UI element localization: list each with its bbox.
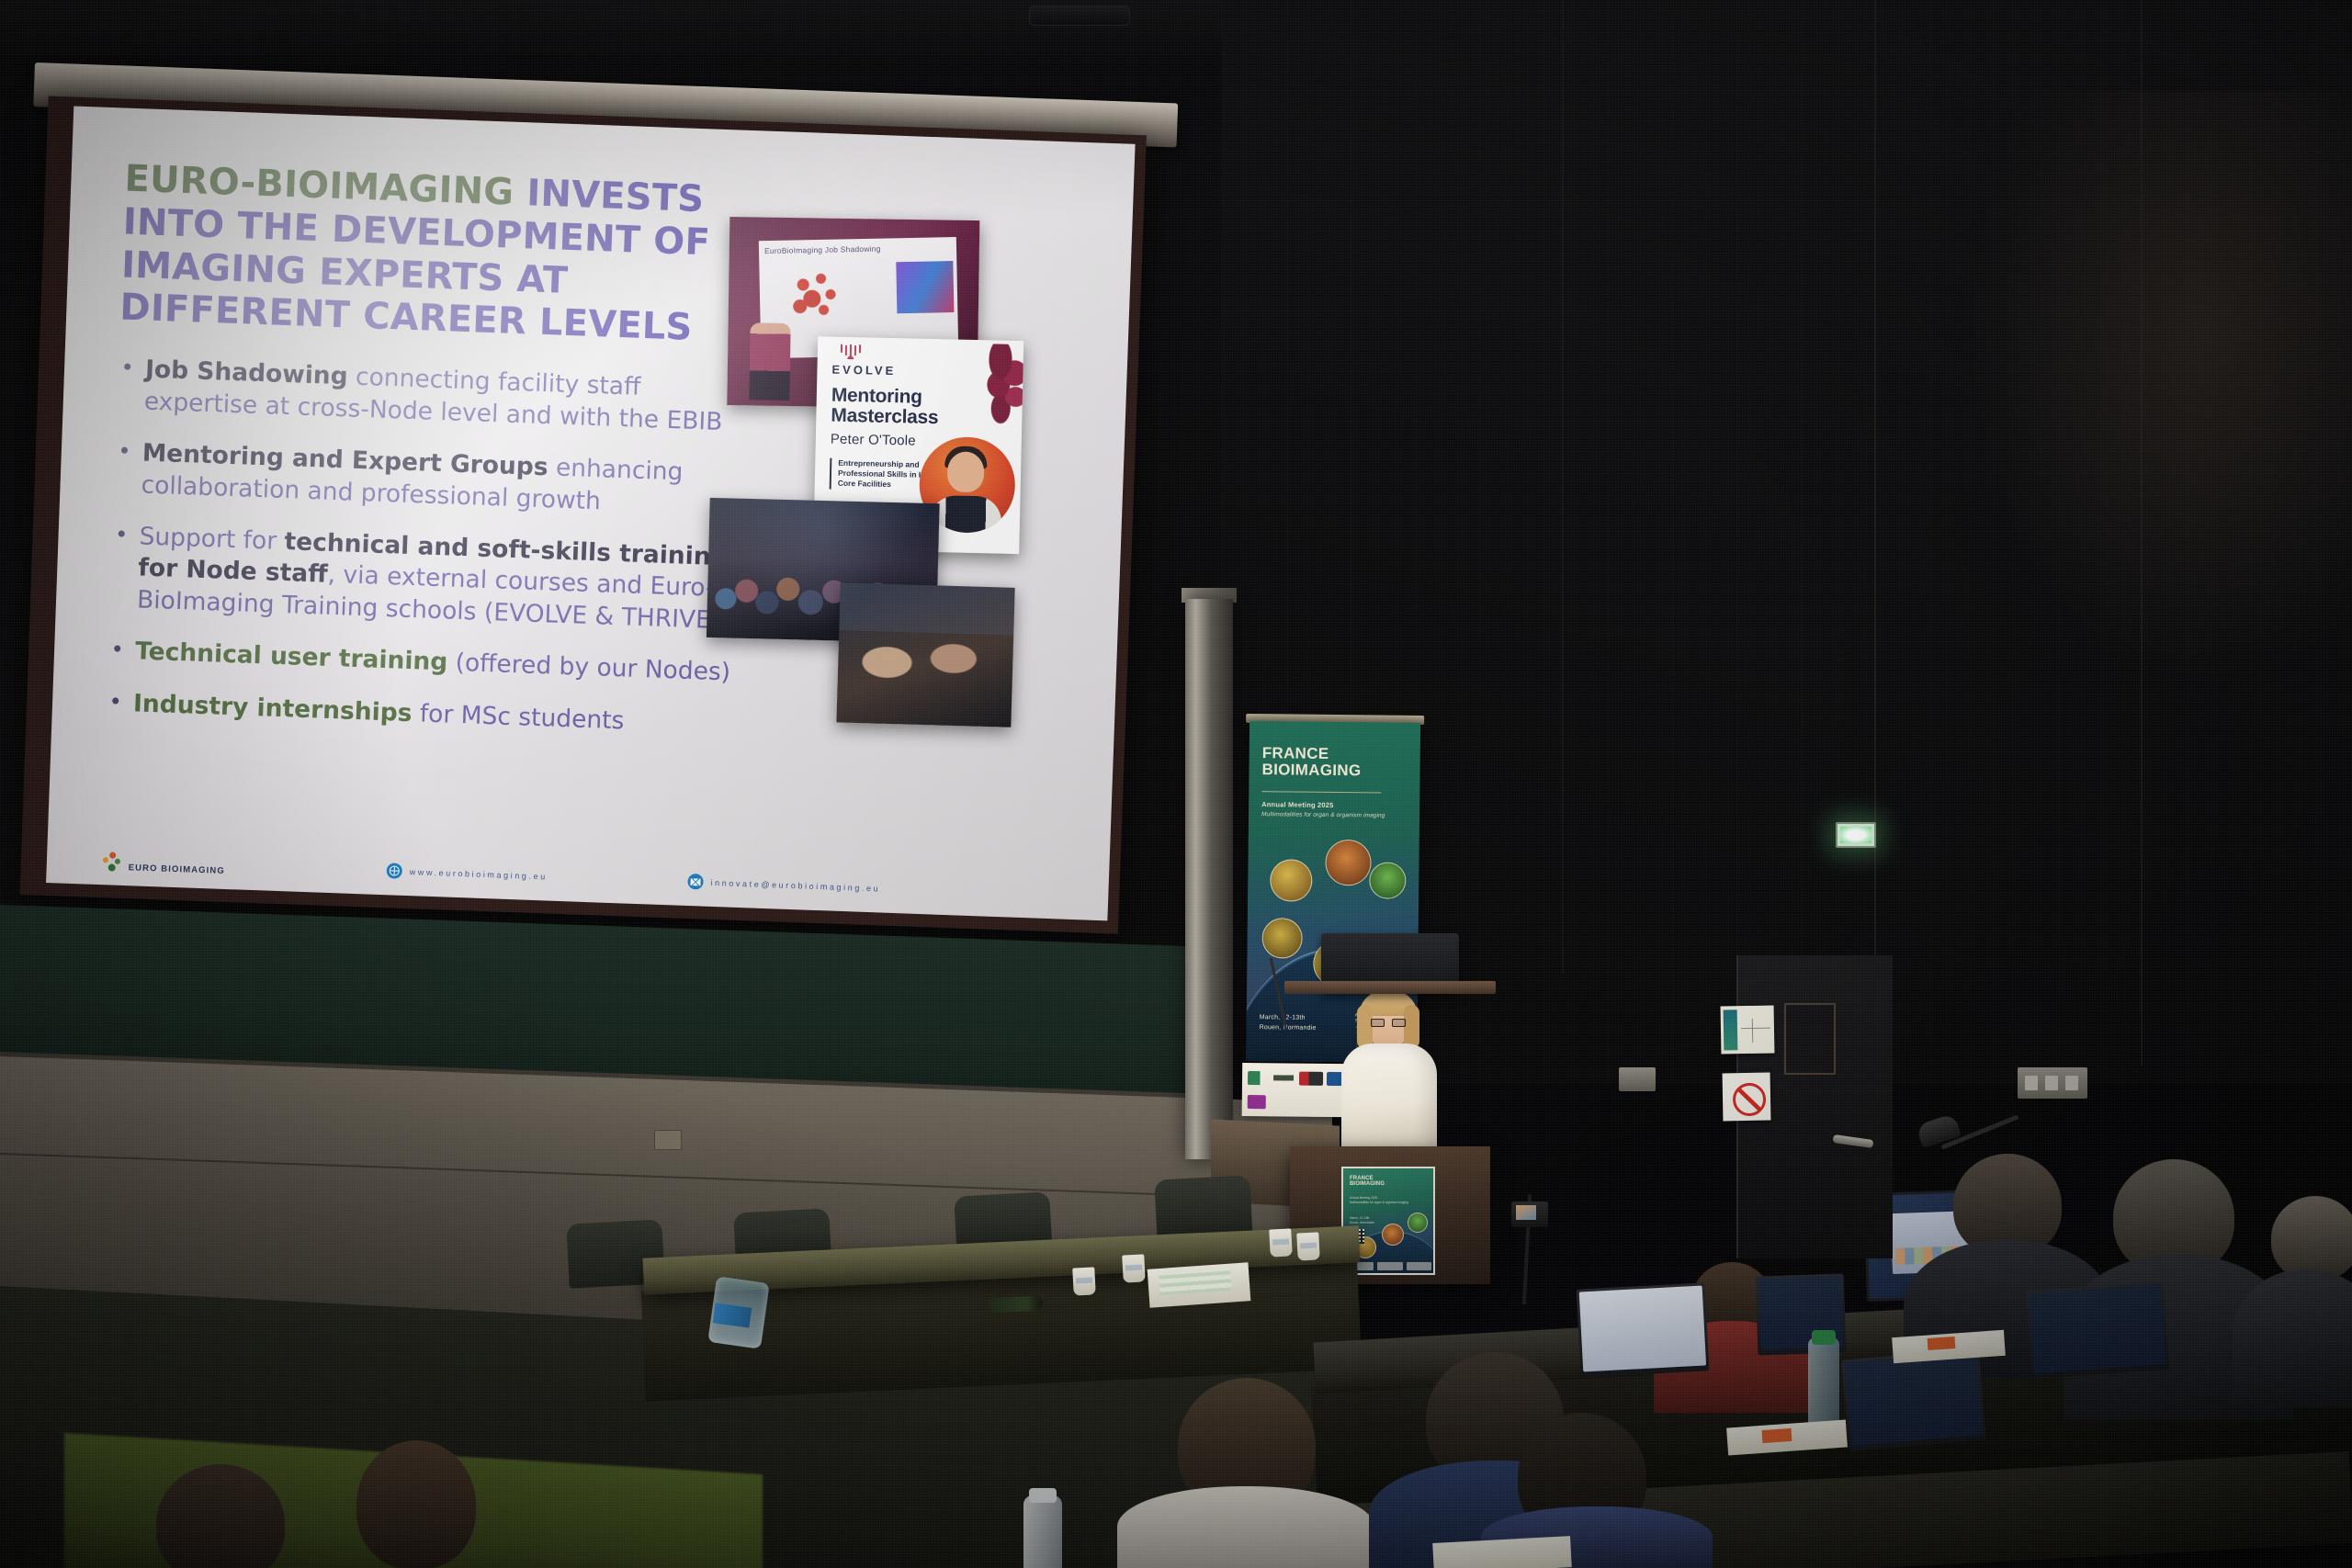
bullet-text: Job Shadowing connecting facility staff … bbox=[143, 355, 761, 440]
projection-screen: EURO-BIOIMAGING INVESTS INTO THE DEVELOP… bbox=[5, 62, 1164, 956]
coffee-cup bbox=[1296, 1232, 1320, 1260]
banner-title-line1: FRANCE bbox=[1262, 744, 1329, 762]
audience-head bbox=[2271, 1196, 2352, 1280]
bullet-prefix: Support for bbox=[139, 522, 285, 556]
no-food-or-drink-icon bbox=[1723, 1073, 1771, 1122]
bullet-text: Technical user training (offered by our … bbox=[134, 637, 730, 690]
bottle-cap bbox=[1812, 1330, 1836, 1345]
sponsor-logo-france-bioimaging bbox=[1248, 1071, 1295, 1086]
bullet-marker: • bbox=[109, 520, 141, 615]
marker-pen bbox=[988, 1295, 1044, 1313]
portrait-body bbox=[930, 495, 1002, 534]
banner-circle-image bbox=[1261, 918, 1302, 958]
slide-bullet-item: • Technical user training (offered by ou… bbox=[107, 636, 752, 690]
laptop-screen bbox=[2029, 1284, 2166, 1373]
podium-sign-subtitle: Annual Meeting 2025Multimodalities for o… bbox=[1350, 1196, 1408, 1205]
slide-footer: EURO BIOIMAGING www.eurobioimaging.eu in… bbox=[100, 835, 1082, 907]
podium-sign-meeting: Annual Meeting 2025 bbox=[1350, 1196, 1377, 1200]
screen-frame: EURO-BIOIMAGING INVESTS INTO THE DEVELOP… bbox=[20, 96, 1147, 934]
banner-circle-image bbox=[1325, 840, 1372, 886]
eurobioimaging-logo: EURO BIOIMAGING bbox=[100, 852, 226, 876]
metal-pillar bbox=[1185, 599, 1233, 1159]
floor-plan-map-sign bbox=[1721, 1005, 1775, 1054]
podium-sign-title: FRANCEBIOIMAGING bbox=[1350, 1176, 1385, 1188]
envelope-icon bbox=[687, 874, 704, 890]
podium-sign-loc1: March, 12-13th bbox=[1350, 1216, 1369, 1220]
sponsor-logo-agc bbox=[1248, 1095, 1266, 1109]
coffee-cup bbox=[1122, 1254, 1146, 1282]
audience-shoulders bbox=[1117, 1486, 1374, 1568]
slide-email-footer: innovate@eurobioimaging.eu bbox=[687, 874, 880, 896]
slide-title: EURO-BIOIMAGING INVESTS INTO THE DEVELOP… bbox=[119, 158, 777, 353]
coffee-cup bbox=[1072, 1267, 1096, 1295]
slide-website-footer: www.eurobioimaging.eu bbox=[386, 863, 548, 884]
podium-sign-logo-strip bbox=[1349, 1262, 1431, 1270]
bullet-rest: for MSc students bbox=[412, 699, 625, 735]
podium-sign-line1: FRANCE bbox=[1350, 1176, 1374, 1181]
wall-outlet bbox=[654, 1130, 682, 1150]
ceiling-vent bbox=[1029, 6, 1130, 26]
emergency-exit-sign bbox=[1836, 822, 1876, 848]
camera-screen bbox=[1516, 1205, 1536, 1220]
eurobioimaging-mark-icon bbox=[100, 852, 125, 873]
bullet-marker: • bbox=[105, 687, 133, 719]
orange-sticker bbox=[1762, 1428, 1792, 1443]
slide-bullet-list: • Job Shadowing connecting facility staf… bbox=[105, 354, 761, 742]
screen-surface: EURO-BIOIMAGING INVESTS INTO THE DEVELOP… bbox=[46, 107, 1136, 921]
wall-seam bbox=[1562, 0, 1564, 974]
wall-mounted-box bbox=[1619, 1067, 1656, 1091]
photo-speaker-figure bbox=[749, 322, 790, 400]
lab-training-photo bbox=[836, 582, 1014, 727]
globe-icon bbox=[386, 863, 402, 879]
bullet-marker: • bbox=[107, 636, 136, 668]
banner-tagline: Multimodalities for organ & organism ima… bbox=[1261, 811, 1416, 819]
wall-switch-plate[interactable] bbox=[2018, 1067, 2087, 1099]
audience-laptop[interactable] bbox=[1577, 1282, 1710, 1377]
inner-slide-title: EuroBioImaging Job Shadowing bbox=[764, 243, 951, 255]
bullet-text: Support for technical and soft-skills tr… bbox=[137, 521, 755, 637]
bullet-lead: Industry internships bbox=[133, 689, 413, 728]
podium-sign-circle-image bbox=[1382, 1224, 1404, 1246]
podium-sign-line2: BIOIMAGING bbox=[1350, 1181, 1385, 1187]
presentation-slide: EURO-BIOIMAGING INVESTS INTO THE DEVELOP… bbox=[46, 107, 1136, 921]
slide-bullet-item: • Support for technical and soft-skills … bbox=[109, 520, 755, 637]
audience-shoulders bbox=[2233, 1269, 2352, 1407]
bullet-marker: • bbox=[116, 354, 145, 418]
banner-title-line2: BIOIMAGING bbox=[1261, 761, 1361, 779]
coffee-cup bbox=[1269, 1228, 1293, 1257]
wall-seam bbox=[2141, 0, 2143, 1066]
bullet-text: Mentoring and Expert Groups enhancing co… bbox=[141, 438, 758, 524]
podium-sign-tagline: Multimodalities for organ & organism ima… bbox=[1350, 1201, 1408, 1204]
speaker-hair-right bbox=[1404, 1005, 1419, 1049]
email-address: innovate@eurobioimaging.eu bbox=[710, 877, 880, 893]
bullet-lead: Technical user training bbox=[135, 637, 448, 677]
banner-subtitle: Annual Meeting 2025 bbox=[1261, 800, 1412, 810]
podium-sign-circle-image bbox=[1408, 1213, 1428, 1233]
slide-bullet-item: • Job Shadowing connecting facility staf… bbox=[116, 354, 761, 440]
door-window bbox=[1784, 1003, 1836, 1075]
orange-sticker bbox=[1928, 1337, 1956, 1350]
audience-head bbox=[356, 1440, 476, 1568]
slide-bullet-item: • Industry internships for MSc students bbox=[105, 687, 749, 741]
slide-bullet-item: • Mentoring and Expert Groups enhancing … bbox=[113, 436, 758, 523]
bullet-lead: Job Shadowing bbox=[145, 355, 349, 391]
water-bottle bbox=[1023, 1495, 1062, 1568]
banner-circle-image bbox=[1369, 862, 1406, 898]
laptop-screen bbox=[1579, 1286, 1706, 1372]
audience-laptop[interactable] bbox=[2026, 1281, 2169, 1379]
slide-image-collage: EuroBioImaging Job Shadowing EVOLVE bbox=[701, 214, 1069, 777]
eurobioimaging-wordmark: EURO BIOIMAGING bbox=[129, 863, 225, 876]
leaf-decoration bbox=[959, 344, 1023, 430]
podium-sign-loc2: Rouen, Normandie bbox=[1350, 1221, 1374, 1224]
bullet-rest: (offered by our Nodes) bbox=[447, 649, 731, 687]
banner-title: FRANCEBIOIMAGING bbox=[1261, 745, 1408, 780]
bullet-text: Industry internships for MSc students bbox=[132, 688, 625, 738]
banner-circle-image bbox=[1270, 859, 1312, 901]
wall-seam bbox=[1874, 0, 1876, 1084]
europe-map-graphic bbox=[781, 266, 854, 325]
bullet-marker: • bbox=[113, 436, 142, 501]
speaker-torso bbox=[1341, 1043, 1437, 1154]
podium-sign-location: March, 12-13thRouen, Normandie bbox=[1350, 1216, 1374, 1225]
podium-top-surface bbox=[1284, 981, 1496, 994]
conference-photo: EURO-BIOIMAGING INVESTS INTO THE DEVELOP… bbox=[0, 0, 2352, 1568]
audience-laptop[interactable] bbox=[1841, 1348, 1986, 1452]
website-url: www.eurobioimaging.eu bbox=[410, 867, 548, 881]
portrait-head bbox=[947, 451, 985, 492]
laptop-screen bbox=[1844, 1351, 1983, 1446]
bottle-cap bbox=[1029, 1488, 1057, 1503]
banner-divider bbox=[1261, 791, 1381, 793]
inner-slide-thumbnails bbox=[896, 261, 954, 313]
wall-glow bbox=[1975, 92, 2352, 680]
speaker-glasses-icon bbox=[1371, 1019, 1406, 1028]
evolve-burst-icon bbox=[838, 344, 864, 360]
